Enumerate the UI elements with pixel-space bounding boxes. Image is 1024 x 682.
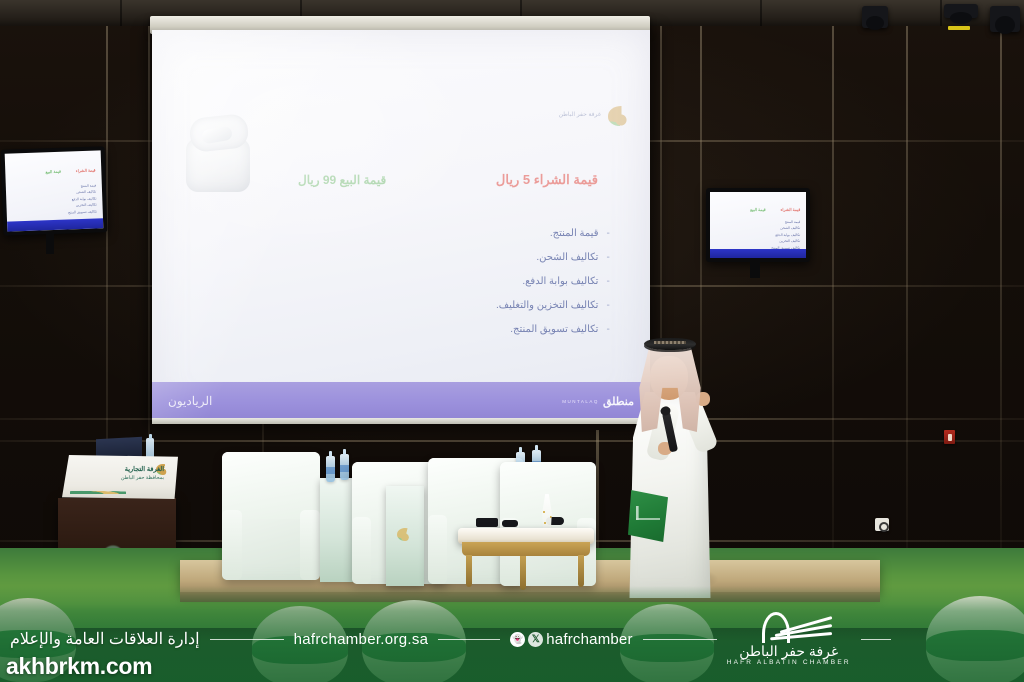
slide-brand-right-label: الرياديون [168,394,212,408]
water-bottle [340,454,349,480]
stage-side-table [320,478,354,582]
bullet-dash: - [606,276,610,287]
speaker-figure [614,330,730,598]
table-leg [520,556,526,590]
podium-subtitle: بمحافظة حفر الباطن [121,475,164,483]
left-monitor-stand [46,232,54,254]
presentation-slide: غرفة حفر الباطن قيمة الشراء 5 ريال قيمة … [152,30,650,420]
left-monitor-list: قيمة المنتج تكاليف الشحن تكاليف بوابة ال… [67,183,97,214]
left-monitor-footer-bar [7,218,103,231]
list-item: - تكاليف التخزين والتغليف. [375,300,610,311]
x-twitter-icon[interactable]: 𝕏 [528,632,543,647]
bullet-dash: - [606,300,610,311]
list-item: قيمة المنتج [67,183,96,188]
footer-logo-name-ar: غرفة حفر الباطن [739,644,838,658]
list-item: تكاليف الشحن [771,226,800,230]
left-monitor-title-buy: قيمة الشراء [76,168,96,174]
list-item: - تكاليف تسويق المنتج. [375,324,610,335]
footer-divider [643,639,717,640]
right-monitor-title-sell: قيمة البيع [750,207,766,212]
left-monitor-screen: قيمة الشراء قيمة البيع قيمة المنتج تكالي… [5,150,104,231]
stage-armchair [222,452,320,580]
event-photo: غرفة حفر الباطن قيمة الشراء 5 ريال قيمة … [0,0,1024,682]
list-item: - تكاليف بوابة الدفع. [375,276,610,287]
projection-screen: غرفة حفر الباطن قيمة الشراء 5 ريال قيمة … [152,30,650,420]
footer-divider [210,639,284,640]
footer-social-group[interactable]: 👻 𝕏 hafrchamber [510,631,632,648]
footer-website-link[interactable]: hafrchamber.org.sa [294,631,429,648]
right-monitor-stand [750,260,760,278]
list-item: - تكاليف الشحن. [375,252,610,263]
footer-social-handle[interactable]: hafrchamber [546,631,632,648]
right-wall-monitor: قيمة الشراء قيمة البيع قيمة المنتج تكالي… [706,188,810,262]
footer-logo-name-en: HAFR ALBATIN CHAMBER [727,659,851,666]
footer-divider [438,639,500,640]
left-monitor-title-sell: قيمة البيع [45,169,61,175]
list-item: تكاليف بوابة الدفع [771,233,800,237]
water-bottle [326,456,335,482]
swoosh-graphic [746,612,832,642]
podium-ribbon-graphic [70,478,126,494]
ceiling-light [862,6,888,28]
fire-alarm-pull-station-icon [944,430,955,444]
bullet-text: تكاليف التخزين والتغليف. [496,300,599,311]
bullet-text: قيمة المنتج. [550,228,599,239]
bullet-dash: - [606,252,610,263]
slide-price-row: قيمة الشراء 5 ريال قيمة البيع 99 ريال [298,172,598,188]
right-monitor-list: قيمة المنتج تكاليف الشحن تكاليف بوابة ال… [771,220,800,250]
ceiling-light [944,4,978,18]
left-wall-monitor: قيمة الشراء قيمة البيع قيمة المنتج تكالي… [1,146,108,236]
right-monitor-title-buy: قيمة الشراء [780,207,800,212]
list-item: تكاليف التخزين [771,239,800,243]
chamber-palm-logo-icon [608,106,634,126]
list-item: - قيمة المنتج. [375,228,610,239]
earbuds-case-icon [180,108,258,194]
bullet-text: تكاليف الشحن. [536,252,598,263]
slide-header-logo: غرفة حفر الباطن [559,106,634,126]
footer-department-label: إدارة العلاقات العامة والإعلام [10,629,200,649]
stage-side-table [386,486,424,586]
bullet-text: تكاليف بوابة الدفع. [522,276,598,287]
table-leg [466,555,472,587]
price-buy-label: قيمة الشراء 5 ريال [496,172,598,188]
right-monitor-screen: قيمة الشراء قيمة البيع قيمة المنتج تكالي… [710,192,806,258]
slide-bullet-list: - قيمة المنتج. - تكاليف الشحن. - تكاليف … [375,228,610,335]
ceiling-light [990,6,1020,32]
wall-mullion [1000,0,1002,600]
wall-conduit [596,430,599,548]
podium-title: الغرفة التجارية [121,465,164,475]
footer-divider [861,639,891,640]
list-item: تكاليف تسويق المنتج [68,209,97,214]
list-item: تكاليف بوابة الدفع [68,196,97,201]
footer-bar: إدارة العلاقات العامة والإعلام hafrchamb… [0,614,1024,682]
bullet-dash: - [606,228,610,239]
wall-mullion [832,0,834,600]
wall-power-outlet-icon [875,518,889,531]
green-flag [628,490,668,542]
list-item: تكاليف الشحن [67,190,96,195]
list-item: قيمة المنتج [771,220,800,224]
snapchat-icon[interactable]: 👻 [510,632,525,647]
price-sell-label: قيمة البيع 99 ريال [298,173,386,187]
screen-glare [152,30,650,420]
screen-bottom-hem [152,418,650,424]
watermark-text: akhbrkm.com [6,653,152,680]
right-monitor-footer-bar [710,249,806,258]
chamber-palm-logo-icon [397,528,413,541]
list-item: تكاليف التخزين [68,203,97,208]
table-leg [578,555,584,587]
chamber-swoosh-logo-icon: غرفة حفر الباطن HAFR ALBATIN CHAMBER [727,612,851,666]
bullet-text: تكاليف تسويق المنتج. [510,324,598,335]
bullet-dash: - [606,324,610,335]
slide-footer-bar: منطلق MUNTALAQ الرياديون [152,382,650,420]
slide-logo-caption: غرفة حفر الباطن [559,112,601,120]
coffee-table-apron [462,542,590,556]
stage-riser-edge [180,592,880,602]
wall-mullion [906,0,908,600]
podium-text: الغرفة التجارية بمحافظة حفر الباطن [121,465,164,482]
podium-front-panel: الغرفة التجارية بمحافظة حفر الباطن [62,455,178,499]
slide-brand-left-sub: MUNTALAQ [562,399,599,404]
igal-headband [644,338,696,350]
